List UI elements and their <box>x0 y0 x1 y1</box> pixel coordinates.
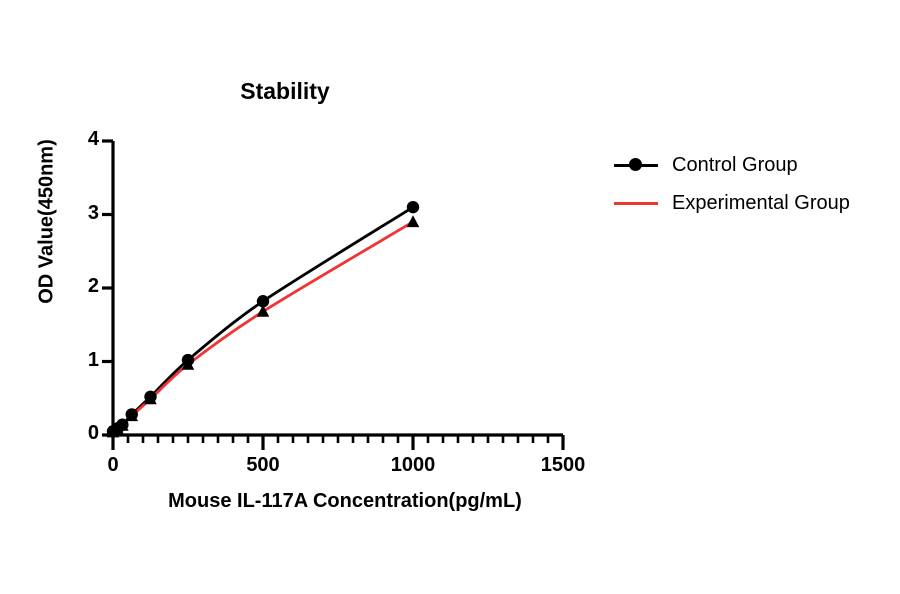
data-point-experimental-group <box>257 305 270 317</box>
series-line-experimental-group <box>113 222 413 432</box>
circle-marker-icon <box>629 158 642 171</box>
legend-label-control-group: Control Group <box>672 154 798 177</box>
legend-item-control-group[interactable]: Control Group <box>614 146 850 184</box>
plot-area <box>0 0 900 594</box>
legend-key-experimental-group <box>614 193 658 213</box>
series-line-control-group <box>113 207 413 431</box>
legend-label-experimental-group: Experimental Group <box>672 192 850 215</box>
chart-legend: Control Group Experimental Group <box>614 146 850 222</box>
legend-key-control-group <box>614 155 658 175</box>
data-point-control-group <box>407 201 419 213</box>
stability-chart-figure: Stability OD Value(450nm) Mouse IL-117A … <box>0 0 900 594</box>
legend-line-red <box>614 202 658 205</box>
legend-item-experimental-group[interactable]: Experimental Group <box>614 184 850 222</box>
data-point-experimental-group <box>407 215 420 227</box>
